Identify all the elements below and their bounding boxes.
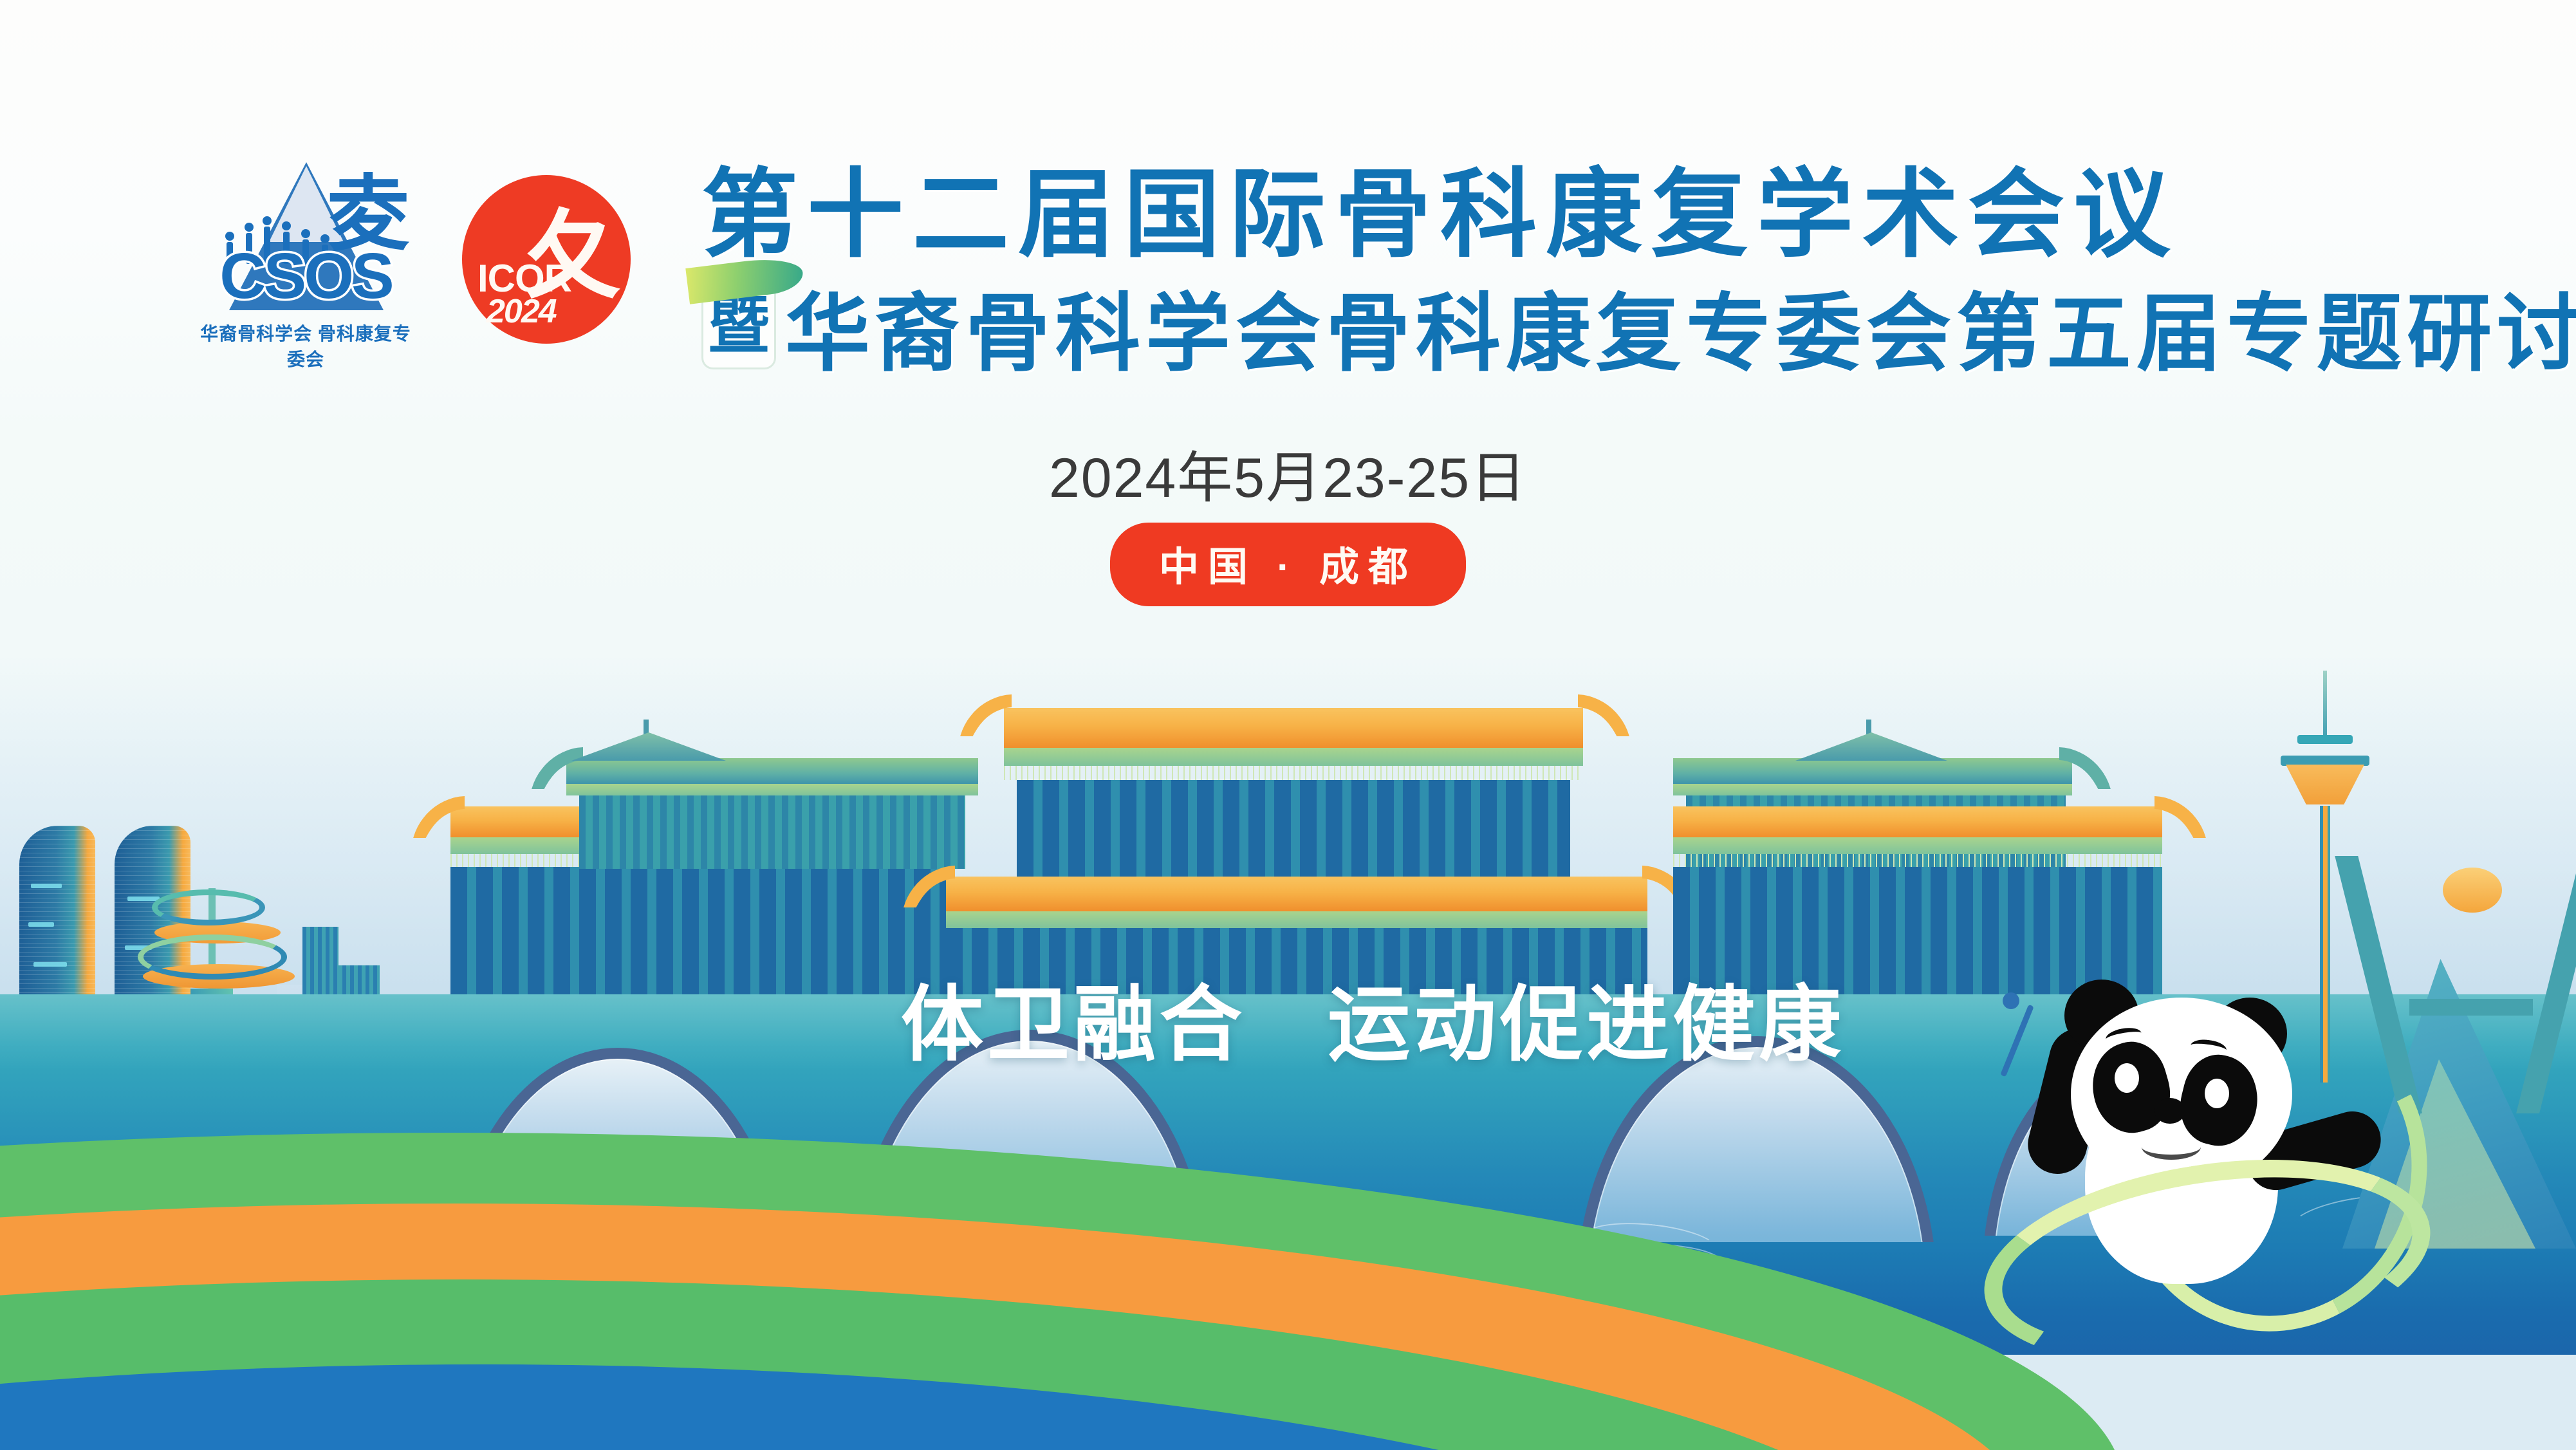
main-hall-upper-pillars — [1017, 780, 1570, 877]
ji-character-box: 暨 — [701, 283, 776, 369]
tv-tower-ring — [2281, 756, 2369, 766]
tower-window — [33, 962, 67, 967]
main-hall-upper-roof — [1004, 708, 1583, 748]
tower-window — [31, 884, 62, 888]
panda-nose — [2154, 1098, 2185, 1124]
csos-acronym: CSOS — [193, 239, 418, 313]
main-hall-lower-eave-left — [900, 862, 955, 907]
slogan-part-2: 运动促进健康 — [1328, 979, 1845, 1071]
poster-header: 夌 CSOS 华裔骨科学会 骨科康复专委会 夂 ICOR 2024 第十二届国际… — [0, 0, 2576, 631]
right-hall-eave-tip — [2154, 793, 2210, 838]
conference-title-line2: 华裔骨科学会骨科康复专委会第五届专题研讨会 — [785, 265, 2576, 388]
csos-logo[interactable]: 夌 CSOS 华裔骨科学会 骨科康复专委会 — [193, 162, 418, 362]
right-hall-roof — [1673, 806, 2162, 837]
panda-mouth — [2142, 1134, 2201, 1160]
panda-eye-left — [2115, 1063, 2139, 1093]
icor-logo[interactable]: 夂 ICOR 2024 — [462, 175, 631, 344]
left-hall-eave-tip-left — [409, 793, 465, 838]
a-frame-sun-disc — [2443, 868, 2502, 913]
a-frame-monument — [2390, 856, 2551, 1113]
right-hall-eave-band — [1673, 837, 2162, 854]
panda-eye-right — [2205, 1079, 2229, 1108]
tv-tower-mast — [2323, 671, 2327, 743]
a-frame-crossbar — [2409, 999, 2533, 1016]
right-pavilion-roof — [1673, 758, 2072, 784]
conference-title-line1: 第十二届国际骨科康复学术会议 — [701, 136, 2400, 276]
left-pavilion-roof — [566, 758, 978, 784]
location-badge: 中国 · 成都 — [1110, 523, 1466, 606]
left-pavilion-eave-band — [566, 784, 978, 795]
conference-date: 2024年5月23-25日 — [0, 432, 2576, 513]
left-hall-pillars — [450, 867, 946, 996]
main-hall-upper-band — [1004, 748, 1583, 766]
icor-year: 2024 — [486, 292, 556, 331]
slogan-part-1: 体卫融合 — [901, 979, 1246, 1071]
conference-slogan: 体卫融合 运动促进健康 — [901, 958, 1845, 1077]
panda-mascot — [1988, 965, 2400, 1371]
left-pavilion-pillars — [579, 784, 965, 869]
location-badge-wrap: 中国 · 成都 — [0, 523, 2576, 606]
main-hall-upper-railing — [1004, 766, 1583, 780]
main-hall-upper-eave-right — [1578, 691, 1633, 736]
pavilion-upper-rim — [152, 889, 265, 925]
conference-poster: 夌 CSOS 华裔骨科学会 骨科康复专委会 夂 ICOR 2024 第十二届国际… — [0, 0, 2576, 1450]
main-hall-lower-roof — [946, 877, 1647, 911]
tower-window — [28, 922, 54, 927]
pavilion-lower-rim — [138, 934, 287, 980]
tower-window — [127, 897, 160, 901]
left-pavilion-eave-tip — [528, 744, 583, 789]
right-pavilion-eave-tip — [2059, 744, 2115, 789]
right-hall-railing — [1673, 854, 2162, 867]
tv-tower-ring-upper — [2297, 735, 2353, 744]
ji-character: 暨 — [708, 295, 770, 357]
conference-title-line2-row: 暨 华裔骨科学会骨科康复专委会第五届专题研讨会 — [701, 278, 2576, 375]
right-pavilion-eave-band — [1673, 784, 2072, 795]
main-hall-lower-band — [946, 911, 1647, 928]
csos-subtitle: 华裔骨科学会 骨科康复专委会 — [193, 320, 418, 371]
main-hall-upper-eave-left — [956, 691, 1012, 736]
